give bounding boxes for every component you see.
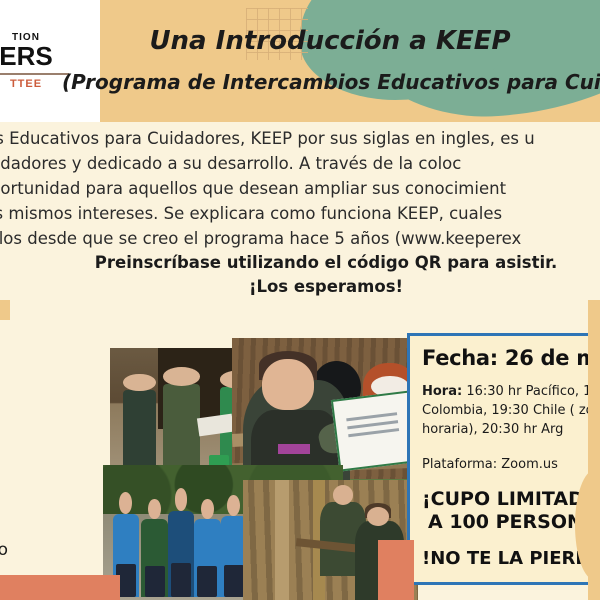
- event-details-card: Fecha: 26 de may Hora: 16:30 hr Pacífico…: [407, 333, 600, 585]
- photo2-certificate: [330, 390, 418, 472]
- photo3-shorts: [224, 565, 244, 597]
- poster-canvas: TION ERS TTEE Una Introducción a KEEP (P…: [0, 0, 600, 600]
- tan-notch-left: [0, 300, 10, 320]
- capacity-line-1: ¡CUPO LIMITADO: [422, 488, 600, 510]
- photo3-head: [148, 499, 161, 519]
- event-time: Hora: 16:30 hr Pacífico, 17 hr Colombia,…: [422, 382, 600, 439]
- photo3-person: [141, 519, 167, 597]
- photo4-head-back: [333, 485, 353, 504]
- capacity-notice: ¡CUPO LIMITADO A 100 PERSONAS!: [422, 488, 600, 534]
- photo1-person-b: [163, 384, 200, 470]
- event-time-label: Hora:: [422, 384, 462, 399]
- photo3-head: [119, 492, 132, 514]
- event-date: Fecha: 26 de may: [422, 346, 600, 370]
- photo3-shorts: [197, 566, 217, 597]
- photo2-name-badge: [278, 444, 310, 454]
- photo1-head-a: [123, 374, 156, 392]
- photo2-keeper-face: [262, 359, 313, 410]
- photo3-person: [168, 511, 194, 597]
- coral-bar-bottom-left: [0, 575, 120, 600]
- coral-bar-bottom-right: [378, 540, 414, 600]
- photo4-head-front: [367, 507, 390, 526]
- capacity-line-2: A 100 PERSONAS!: [422, 511, 600, 534]
- photo3-head: [201, 499, 214, 519]
- photo4-fence-post-left: [275, 480, 289, 600]
- photo3-head: [175, 488, 188, 510]
- photo1-person-a: [123, 390, 156, 471]
- photo3-shorts: [145, 566, 165, 597]
- dont-miss-it-text: !NO TE LA PIERDAS: [422, 548, 600, 569]
- photo3-shorts: [171, 563, 191, 598]
- event-platform: Plataforma: Zoom.us: [422, 457, 600, 472]
- photo3-person: [194, 519, 220, 597]
